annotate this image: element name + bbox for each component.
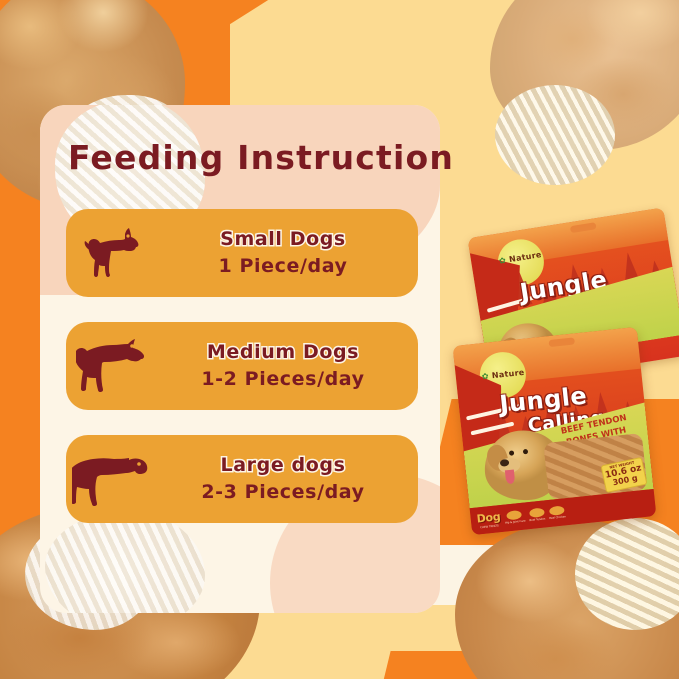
chew-knot-detail-top-right (495, 85, 615, 185)
badge-real-chicken: Real Chicken (548, 506, 566, 521)
feeding-row-medium-amount: 1-2 Pieces/day (158, 367, 408, 392)
dog-eye-left (508, 451, 513, 456)
medium-dog-silhouette-icon (66, 338, 158, 394)
feeding-row-small-size: Small Dogs (158, 228, 408, 252)
feeding-row-medium: Medium Dogs 1-2 Pieces/day (66, 322, 418, 410)
feeding-row-large-amount: 2-3 Pieces/day (158, 480, 408, 505)
feeding-row-medium-size: Medium Dogs (158, 341, 408, 365)
badge-joint-care: Hip & Joint Care (504, 510, 526, 525)
dog-eye-right (522, 449, 527, 454)
small-dog-silhouette-icon (66, 227, 158, 279)
feeding-row-large-text: Large dogs 2-3 Pieces/day (158, 454, 418, 504)
badge-dog-wordmark: Dog CHEW TREATS (476, 510, 501, 529)
page-title: Feeding Instruction (68, 138, 454, 177)
leaf-icon: ✿ (498, 255, 506, 265)
dog-tongue (504, 470, 514, 485)
feeding-row-small-text: Small Dogs 1 Piece/day (158, 228, 418, 278)
large-dog-silhouette-icon (66, 451, 158, 507)
feeding-row-medium-text: Medium Dogs 1-2 Pieces/day (158, 341, 418, 391)
feeding-row-small-amount: 1 Piece/day (158, 254, 408, 279)
badge-beef-tendon: Beef Tendon (528, 508, 545, 523)
feeding-row-small: Small Dogs 1 Piece/day (66, 209, 418, 297)
infographic-canvas: Feeding Instruction Small Dogs 1 Piece/d… (0, 0, 679, 679)
leaf-icon: ✿ (481, 371, 489, 381)
feeding-rows: Small Dogs 1 Piece/day Medium Dogs 1-2 P… (66, 209, 418, 548)
product-bag-front: ✿ Nature Jungle Calling BEEF TENDON BONE… (453, 327, 657, 535)
feeding-row-large: Large dogs 2-3 Pieces/day (66, 435, 418, 523)
feeding-row-large-size: Large dogs (158, 454, 408, 478)
